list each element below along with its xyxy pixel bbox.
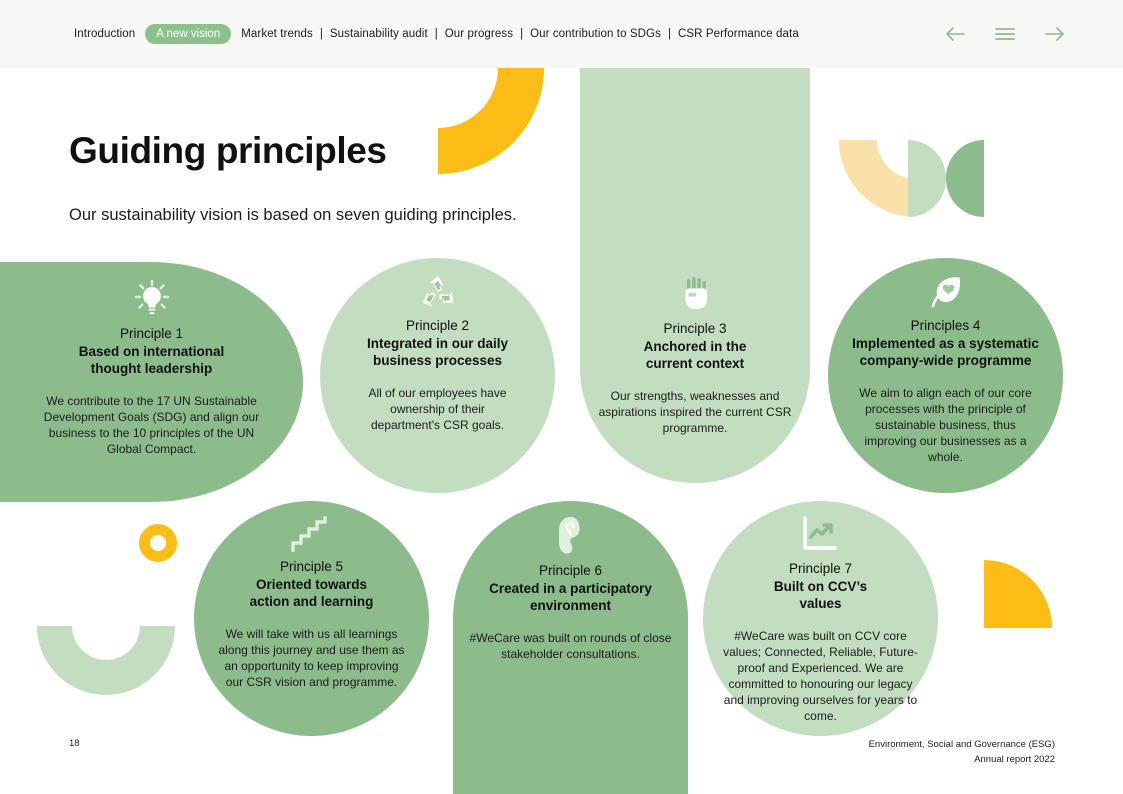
lightbulb-icon bbox=[130, 276, 174, 320]
nav-item-our-contribution-to-sdgs[interactable]: Our contribution to SDGs bbox=[526, 28, 665, 40]
light-yellow-quarter-ring bbox=[839, 140, 916, 217]
recycle-icon bbox=[418, 272, 458, 312]
principle-body: We will take with us all learnings along… bbox=[218, 627, 406, 691]
stairs-icon bbox=[290, 515, 334, 553]
nav-controls bbox=[942, 0, 1068, 68]
principle-body: Our strengths, weaknesses and aspiration… bbox=[595, 389, 795, 437]
principle-number: Principle 5 bbox=[280, 559, 343, 576]
raised-hand-icon bbox=[676, 275, 714, 315]
principle-card-2: Principle 2 Integrated in our daily busi… bbox=[320, 258, 555, 493]
pale-green-half-ring bbox=[37, 626, 175, 695]
yellow-quarter-circle bbox=[984, 560, 1052, 628]
leaf-heart-icon bbox=[925, 272, 967, 312]
green-half-circle bbox=[946, 140, 984, 217]
principle-heading: Implemented as a systematic company-wide… bbox=[852, 335, 1039, 370]
growth-chart-icon bbox=[800, 515, 842, 555]
principle-number: Principles 4 bbox=[911, 318, 981, 335]
nav-separator: | bbox=[517, 28, 526, 40]
nav-item-sustainability-audit[interactable]: Sustainability audit bbox=[326, 28, 432, 40]
nav-item-market-trends[interactable]: Market trends bbox=[237, 28, 317, 40]
principle-body: We aim to align each of our core process… bbox=[852, 386, 1040, 466]
arrow-left-icon[interactable] bbox=[942, 21, 968, 47]
pale-green-half-circle bbox=[908, 140, 946, 217]
page-title: Guiding principles bbox=[69, 130, 387, 172]
principle-heading: Integrated in our daily business process… bbox=[367, 335, 508, 370]
principle-number: Principle 6 bbox=[539, 563, 602, 580]
principle-card-6: Principle 6 Created in a participatory e… bbox=[453, 501, 688, 794]
principle-heading: Anchored in the current context bbox=[644, 338, 747, 373]
principle-body: We contribute to the 17 UN Sustainable D… bbox=[36, 394, 268, 458]
principle-heading: Created in a participatory environment bbox=[489, 580, 652, 615]
section-nav: IntroductionA new visionMarket trends|Su… bbox=[70, 24, 803, 44]
slide-page: IntroductionA new visionMarket trends|Su… bbox=[0, 0, 1123, 794]
footer-report-info: Environment, Social and Governance (ESG)… bbox=[869, 738, 1055, 767]
principle-number: Principle 1 bbox=[120, 326, 183, 343]
principle-body: #WeCare was built on CCV core values; Co… bbox=[723, 629, 918, 725]
principle-card-1: Principle 1 Based on international thoug… bbox=[0, 262, 303, 502]
yellow-quarter-ring bbox=[438, 68, 544, 174]
arrow-right-icon[interactable] bbox=[1042, 21, 1068, 47]
principle-number: Principle 3 bbox=[663, 321, 726, 338]
nav-item-our-progress[interactable]: Our progress bbox=[441, 28, 517, 40]
principle-body: All of our employees have ownership of t… bbox=[358, 386, 518, 434]
page-number: 18 bbox=[69, 738, 80, 749]
nav-separator: | bbox=[665, 28, 674, 40]
footer-line-1: Environment, Social and Governance (ESG) bbox=[869, 738, 1055, 753]
principle-card-5: Principle 5 Oriented towards action and … bbox=[194, 501, 429, 736]
ear-icon bbox=[555, 515, 587, 557]
principle-heading: Oriented towards action and learning bbox=[250, 576, 374, 611]
principle-card-7: Principle 7 Built on CCV’s values #WeCar… bbox=[703, 501, 938, 736]
principle-number: Principle 2 bbox=[406, 318, 469, 335]
hamburger-menu-icon[interactable] bbox=[992, 21, 1018, 47]
principle-body: #WeCare was built on rounds of close sta… bbox=[463, 631, 678, 663]
nav-separator: | bbox=[317, 28, 326, 40]
principle-card-3: Principle 3 Anchored in the current cont… bbox=[580, 68, 810, 483]
nav-item-csr-performance-data[interactable]: CSR Performance data bbox=[674, 28, 803, 40]
principle-heading: Based on international thought leadershi… bbox=[79, 343, 225, 378]
nav-item-introduction[interactable]: Introduction bbox=[70, 28, 139, 40]
principle-card-4: Principles 4 Implemented as a systematic… bbox=[828, 258, 1063, 493]
footer-line-2: Annual report 2022 bbox=[869, 753, 1055, 768]
top-navigation-bar: IntroductionA new visionMarket trends|Su… bbox=[0, 0, 1123, 68]
principle-heading: Built on CCV’s values bbox=[774, 578, 867, 613]
principle-number: Principle 7 bbox=[789, 561, 852, 578]
yellow-ring bbox=[139, 524, 177, 562]
nav-item-a-new-vision[interactable]: A new vision bbox=[145, 24, 231, 44]
nav-separator: | bbox=[432, 28, 441, 40]
page-subtitle: Our sustainability vision is based on se… bbox=[69, 206, 517, 225]
